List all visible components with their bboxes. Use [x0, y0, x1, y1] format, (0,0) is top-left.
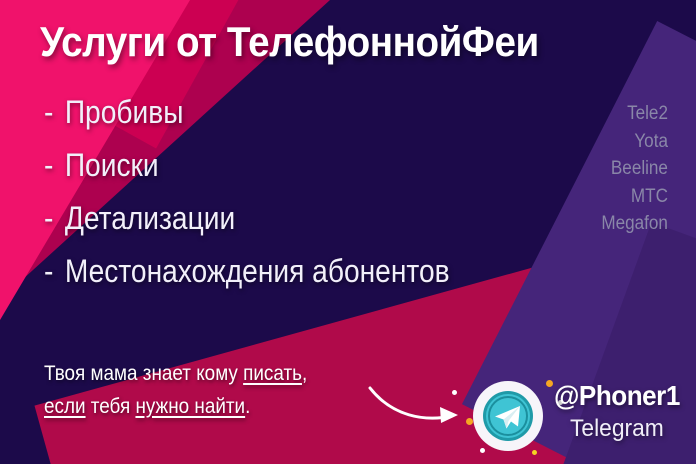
bullet-dash: -	[44, 202, 53, 234]
tagline-text: Твоя мама знает кому писать, если тебя н…	[44, 358, 307, 423]
operator-name: Yota	[601, 128, 668, 156]
tagline-text-segment: ,	[302, 362, 307, 385]
operator-name: Tele2	[601, 100, 668, 128]
telegram-badge[interactable]: @Phoner1 Telegram	[466, 374, 682, 458]
tagline-underlined-word: если	[44, 395, 86, 418]
tagline-underlined-word: нужно найти	[135, 395, 245, 418]
tagline-line-2: если тебя нужно найти.	[44, 391, 307, 424]
poster-content: Услуги от ТелефоннойФеи - Пробивы - Поис…	[0, 0, 696, 464]
list-item: - Детализации	[44, 202, 450, 234]
telegram-paper-plane-icon[interactable]	[472, 380, 544, 452]
service-label: Поиски	[65, 149, 159, 181]
bullet-dash: -	[44, 255, 53, 287]
confetti-dot	[546, 380, 553, 387]
service-label: Пробивы	[65, 96, 184, 128]
service-label: Местонахождения абонентов	[65, 255, 450, 287]
tagline-text-segment: .	[245, 395, 250, 418]
operator-name: Beeline	[601, 155, 668, 183]
service-label: Детализации	[65, 202, 235, 234]
tagline-underlined-word: писать	[243, 362, 302, 385]
confetti-dot	[452, 390, 457, 395]
curved-arrow-right-icon	[368, 382, 472, 426]
bullet-dash: -	[44, 149, 53, 181]
list-item: - Местонахождения абонентов	[44, 255, 450, 287]
list-item: - Пробивы	[44, 96, 450, 128]
promo-poster: Услуги от ТелефоннойФеи - Пробивы - Поис…	[0, 0, 696, 464]
operator-name: Megafon	[601, 210, 668, 238]
confetti-dot	[466, 418, 473, 425]
confetti-dot	[480, 448, 485, 453]
tagline-text-segment: Твоя мама знает кому	[44, 362, 243, 385]
poster-title: Услуги от ТелефоннойФеи	[40, 18, 539, 66]
confetti-dot	[532, 450, 537, 455]
services-list: - Пробивы - Поиски - Детализации - Место…	[44, 96, 505, 308]
operator-name: MTC	[601, 183, 668, 211]
telegram-network-label: Telegram	[570, 415, 664, 443]
list-item: - Поиски	[44, 149, 450, 181]
tagline-line-1: Твоя мама знает кому писать,	[44, 358, 307, 391]
tagline-text-segment: тебя	[86, 395, 136, 418]
bullet-dash: -	[44, 96, 53, 128]
telegram-handle[interactable]: @Phoner1	[554, 380, 680, 412]
operators-list: Tele2 Yota Beeline MTC Megafon	[594, 100, 668, 238]
